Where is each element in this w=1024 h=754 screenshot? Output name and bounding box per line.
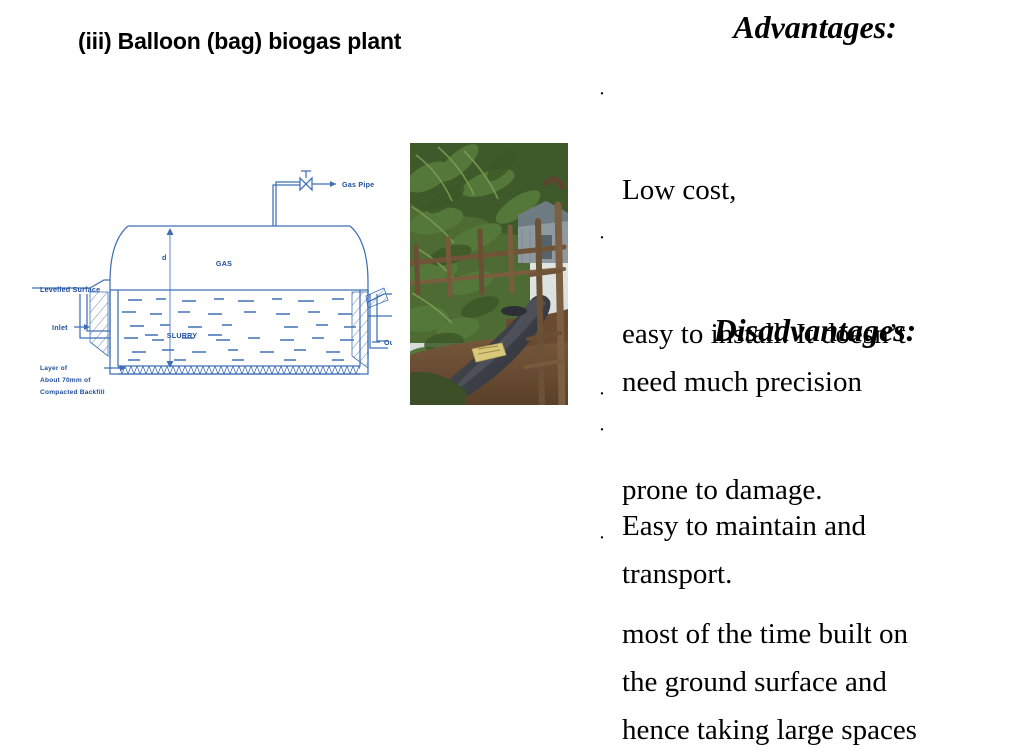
list-item: · prone to damage.	[588, 370, 1024, 514]
depth-dimension: d	[162, 228, 174, 368]
diagram-label-gas: GAS	[216, 259, 232, 268]
diagram-label-levelled-surface: Levelled Surface	[40, 285, 100, 294]
outlet-group: Outlet	[352, 288, 392, 368]
diagram-label-backfill-line2: About 70mm of	[40, 377, 91, 384]
disadvantages-list: · prone to damage. · most of the time bu…	[588, 370, 1024, 754]
diagram-label-gas-pipe: Gas Pipe	[342, 180, 374, 189]
diagram-label-backfill-line3: Compacted Backfill	[40, 389, 105, 396]
compacted-backfill-layer	[118, 366, 360, 374]
bullet-dot-icon: ·	[595, 214, 609, 262]
bullet-dot-icon: ·	[595, 370, 609, 418]
biogas-plant-diagram: Gas Pipe GAS	[32, 142, 392, 404]
diagram-svg: Gas Pipe GAS	[32, 142, 392, 404]
diagram-label-outlet: Outlet	[384, 338, 392, 347]
slide-root: { "slide": { "title": "(iii) Balloon (ba…	[0, 0, 1024, 576]
diagram-label-depth: d	[162, 253, 167, 262]
list-item: · Low cost,	[588, 70, 1024, 214]
slurry-fill	[122, 299, 356, 360]
tank-walls	[110, 290, 368, 374]
list-item-text: Low cost,	[622, 174, 736, 206]
list-item-text: prone to damage.	[622, 474, 823, 506]
bullet-dot-icon: ·	[595, 514, 609, 562]
gas-pipe-group: Gas Pipe	[273, 171, 374, 226]
photo-svg	[410, 143, 568, 405]
backfill-callout: Layer of About 70mm of Compacted Backfil…	[40, 365, 126, 396]
diagram-label-slurry: SLURRY	[167, 331, 197, 340]
list-item-text: most of the time built on the ground sur…	[622, 618, 917, 746]
disadvantages-heading: Disadvantages:	[588, 311, 1024, 349]
inlet-group: Levelled Surface Inlet	[32, 280, 110, 356]
bullet-dot-icon: ·	[595, 70, 609, 118]
diagram-label-inlet: Inlet	[52, 323, 68, 332]
list-item: · most of the time built on the ground s…	[588, 514, 1024, 754]
content-column: Advantages: · Low cost, · easy to instal…	[588, 0, 1024, 576]
advantages-heading: Advantages:	[588, 8, 1024, 46]
diagram-label-backfill-line1: Layer of	[40, 365, 68, 372]
balloon-envelope	[110, 226, 368, 358]
balloon-biogas-digester-photo	[410, 143, 568, 405]
page-title: (iii) Balloon (bag) biogas plant	[78, 27, 538, 55]
